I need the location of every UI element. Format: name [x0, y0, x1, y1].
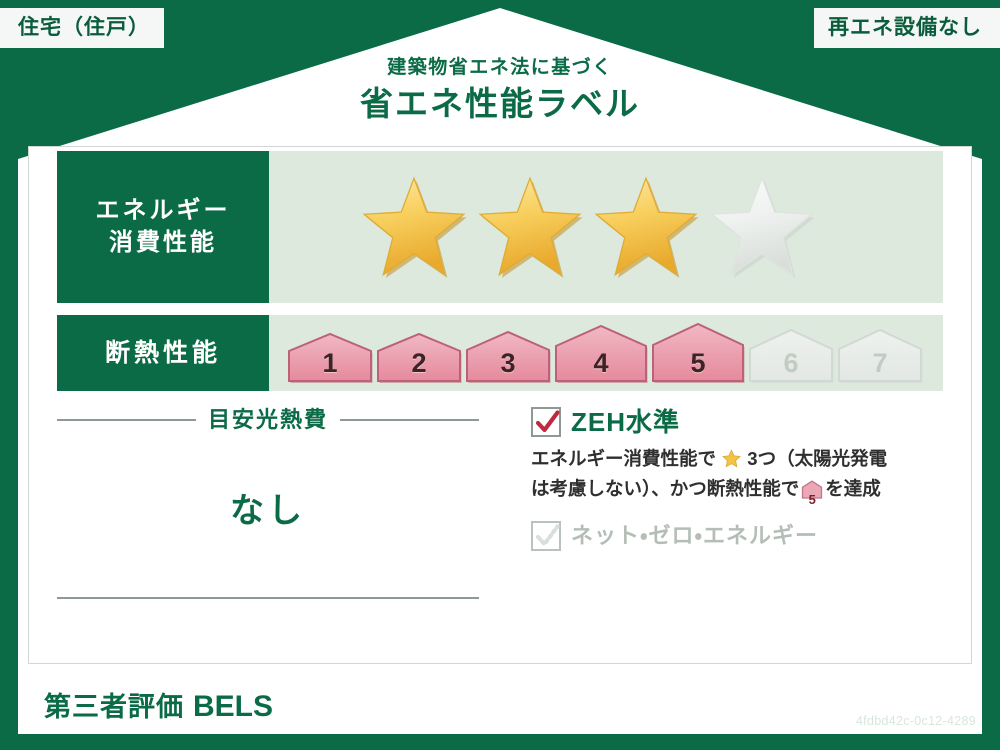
- inline-house-number: 5: [801, 493, 823, 506]
- insulation-performance-label: 断熱性能: [57, 315, 269, 391]
- utility-cost-heading: 目安光熱費: [57, 409, 479, 431]
- bels-energy-label: 住宅（住戸） 再エネ設備なし 建築物省エネ法に基づく 省エネ性能ラベル エネルギ…: [0, 0, 1000, 750]
- heading-rule-right: [340, 419, 479, 421]
- insulation-level-active: 5: [651, 322, 745, 384]
- inline-star-icon: [717, 451, 746, 472]
- insulation-level-active: 1: [287, 332, 373, 384]
- insulation-level-inactive: 7: [837, 328, 923, 384]
- evaluation-info: 評価日 2025年12月12日 4fdbd42c-0c12-4289: [754, 687, 976, 728]
- utility-cost-value: なし: [57, 483, 479, 532]
- zeh-desc-star-count: 3つ（太陽光発電: [747, 448, 887, 469]
- property-unit-number: 1号棟-590320-0001: [416, 701, 564, 718]
- heading-rule-left: [57, 419, 196, 421]
- inline-house-badge-icon: 5: [801, 480, 823, 507]
- insulation-level-inactive: 6: [748, 328, 834, 384]
- insulation-level-number: 4: [554, 350, 648, 377]
- star-rating: [358, 174, 818, 280]
- energy-stars-area: [269, 151, 943, 303]
- net-zero-energy-row: ネット・ゼロ・エネルギー: [531, 521, 949, 551]
- insulation-level-active: 3: [465, 330, 551, 384]
- lower-section: 目安光熱費 なし ZEH水準 エネルギー消費性能で: [29, 399, 971, 663]
- zeh-desc-part2: は考慮しない）、かつ断熱性能で: [531, 478, 799, 499]
- star-filled-icon: [474, 174, 586, 280]
- bels-third-party-text: 第三者評価: [44, 694, 184, 721]
- insulation-level-number: 5: [651, 350, 745, 377]
- insulation-level-scale: 1234567: [287, 322, 923, 384]
- net-zero-energy-title: ネット・ゼロ・エネルギー: [571, 525, 818, 547]
- bels-wordmark: BELS: [193, 692, 273, 722]
- insulation-level-number: 1: [287, 350, 373, 377]
- insulation-level-number: 6: [748, 350, 834, 377]
- energy-performance-label: エネルギー 消費性能: [57, 151, 269, 303]
- badge-renewable-energy: 再エネ設備なし: [814, 8, 1000, 48]
- zeh-checkbox-checked: [531, 407, 561, 437]
- star-empty-icon: [706, 174, 818, 280]
- utility-cost-panel: 目安光熱費 なし: [29, 399, 507, 663]
- title-subtitle: 建築物省エネ法に基づく: [0, 58, 1000, 79]
- utility-cost-bottom-rule: [57, 597, 479, 599]
- star-filled-icon: [590, 174, 702, 280]
- badge-building-type: 住宅（住戸）: [0, 8, 164, 48]
- footer-bar: 第三者評価 BELS 瑞浪市薬師町1号棟-590320-0001 評価日 202…: [0, 664, 1000, 750]
- energy-label-line2: 消費性能: [109, 227, 217, 259]
- zeh-description: エネルギー消費性能で 3つ（太陽光発電 は考慮しない）、かつ断熱性能で 5 を達…: [531, 446, 949, 507]
- insulation-label-text: 断熱性能: [105, 337, 221, 370]
- zeh-standard-row: ZEH水準: [531, 407, 949, 437]
- bels-logo: 第三者評価 BELS: [30, 685, 287, 730]
- insulation-scale-area: 1234567: [269, 315, 943, 391]
- insulation-level-number: 3: [465, 350, 551, 377]
- utility-cost-title: 目安光熱費: [208, 409, 328, 431]
- insulation-performance-row: 断熱性能 1234567: [29, 315, 971, 391]
- insulation-level-number: 2: [376, 350, 462, 377]
- zeh-desc-part3: を達成: [825, 478, 881, 499]
- insulation-level-active: 4: [554, 324, 648, 384]
- energy-label-line1: エネルギー: [96, 195, 231, 227]
- zeh-desc-part1: エネルギー消費性能で: [531, 448, 716, 469]
- insulation-level-active: 2: [376, 332, 462, 384]
- evaluation-id: 4fdbd42c-0c12-4289: [754, 714, 976, 728]
- content-card: エネルギー 消費性能 断熱性能 1234567 目安光熱費: [28, 146, 972, 664]
- insulation-level-number: 7: [837, 350, 923, 377]
- star-filled-icon: [358, 174, 470, 280]
- energy-performance-row: エネルギー 消費性能: [29, 151, 971, 303]
- evaluation-date: 評価日 2025年12月12日: [754, 687, 976, 709]
- property-address-line: 瑞浪市薬師町1号棟-590320-0001: [303, 695, 564, 719]
- net-zero-checkbox-unchecked: [531, 521, 561, 551]
- zeh-standard-title: ZEH水準: [571, 409, 680, 435]
- page-title: 建築物省エネ法に基づく 省エネ性能ラベル: [0, 58, 1000, 122]
- property-address: 瑞浪市薬師町: [303, 701, 402, 718]
- title-main: 省エネ性能ラベル: [0, 86, 1000, 122]
- zeh-panel: ZEH水準 エネルギー消費性能で 3つ（太陽光発電 は考慮しない）、かつ断熱性能…: [507, 399, 971, 663]
